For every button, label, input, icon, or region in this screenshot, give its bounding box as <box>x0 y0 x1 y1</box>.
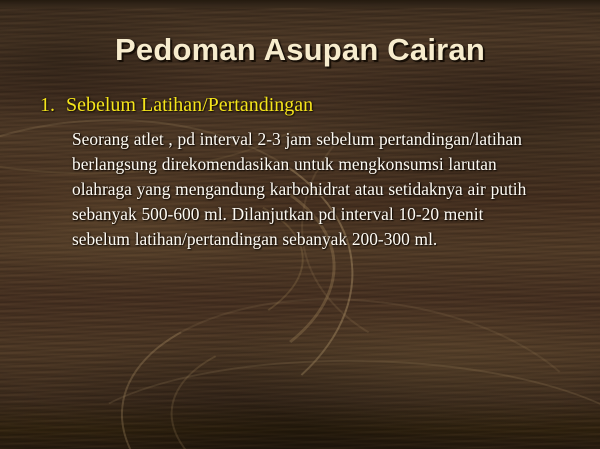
slide-body: 1. Sebelum Latihan/Pertandingan Seorang … <box>40 93 560 252</box>
list-item-heading: Sebelum Latihan/Pertandingan <box>66 93 313 118</box>
slide-content: Pedoman Asupan Cairan 1. Sebelum Latihan… <box>0 0 600 449</box>
list-item: 1. Sebelum Latihan/Pertandingan <box>40 93 560 118</box>
list-item-paragraph: Seorang atlet , pd interval 2-3 jam sebe… <box>72 127 542 252</box>
presentation-slide: Pedoman Asupan Cairan 1. Sebelum Latihan… <box>0 0 600 449</box>
list-item-number: 1. <box>40 93 55 118</box>
slide-title: Pedoman Asupan Cairan <box>0 32 600 68</box>
